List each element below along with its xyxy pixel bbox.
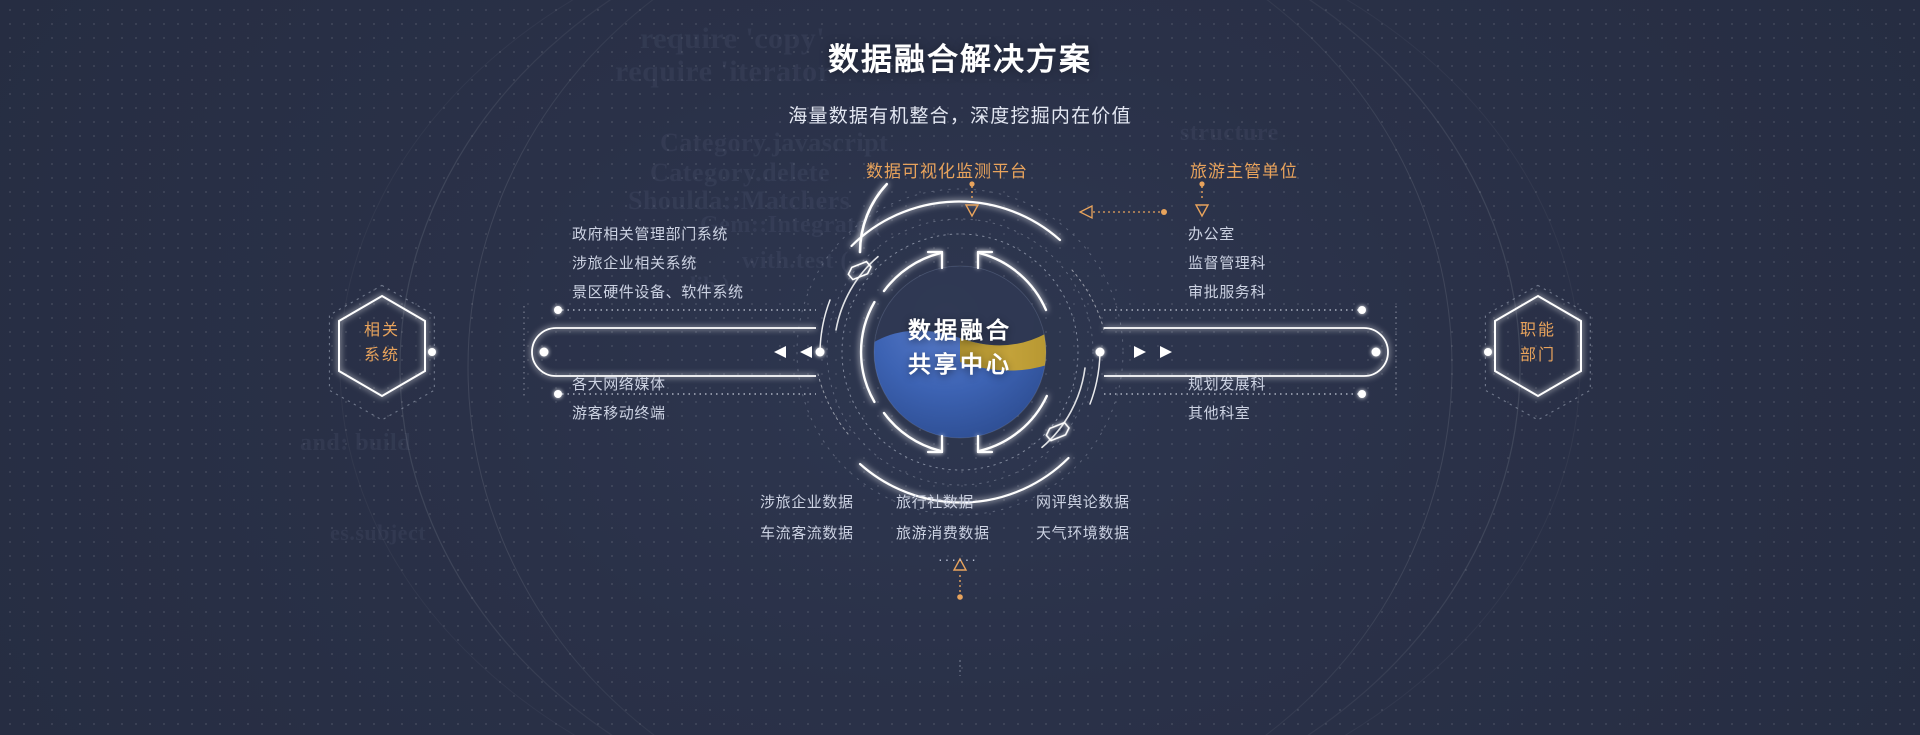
left-hexagon-label-line1: 相关 — [322, 318, 442, 343]
page-subtitle: 海量数据有机整合，深度挖掘内在价值 — [0, 101, 1920, 128]
right-output-item-2: 审批服务科 — [1188, 285, 1266, 300]
left-input-item-1: 涉旅企业相关系统 — [572, 256, 697, 271]
left-hexagon-label-line2: 系统 — [322, 343, 442, 368]
right-output-item-1: 监督管理科 — [1188, 256, 1266, 271]
bottom-data-item-3: 车流客流数据 — [760, 526, 854, 541]
top-left-node-label[interactable]: 数据可视化监测平台 — [866, 163, 1028, 180]
left-input-item-0: 政府相关管理部门系统 — [572, 227, 728, 242]
bottom-data-item-0: 涉旅企业数据 — [760, 495, 854, 510]
left-input-item-4: 游客移动终端 — [572, 406, 666, 421]
right-output-item-3: 规划发展科 — [1188, 377, 1266, 392]
center-label-line1: 数据融合 — [830, 313, 1090, 347]
bottom-data-item-1: 旅行社数据 — [896, 495, 974, 510]
center-node-label: 数据融合 共享中心 — [830, 313, 1090, 381]
bottom-data-item-5: 天气环境数据 — [1036, 526, 1130, 541]
right-hexagon-label-line1: 职能 — [1478, 318, 1598, 343]
header: 数据融合解决方案 海量数据有机整合，深度挖掘内在价值 — [0, 34, 1920, 128]
page-title: 数据融合解决方案 — [0, 34, 1920, 79]
right-hexagon-label[interactable]: 职能 部门 — [1478, 318, 1598, 368]
left-input-item-3: 各大网络媒体 — [572, 377, 666, 392]
bottom-data-item-4: 旅游消费数据 — [896, 526, 990, 541]
right-hexagon-label-line2: 部门 — [1478, 343, 1598, 368]
bottom-data-ellipsis: ······ — [938, 551, 978, 567]
right-output-item-4: 其他科室 — [1188, 406, 1250, 421]
right-output-item-0: 办公室 — [1188, 227, 1235, 242]
center-label-line2: 共享中心 — [830, 347, 1090, 381]
top-right-node-label[interactable]: 旅游主管单位 — [1190, 163, 1298, 180]
left-input-item-2: 景区硬件设备、软件系统 — [572, 285, 744, 300]
left-hexagon-label[interactable]: 相关 系统 — [322, 318, 442, 368]
right-connector-bus — [1096, 306, 1493, 398]
bottom-data-item-2: 网评舆论数据 — [1036, 495, 1130, 510]
